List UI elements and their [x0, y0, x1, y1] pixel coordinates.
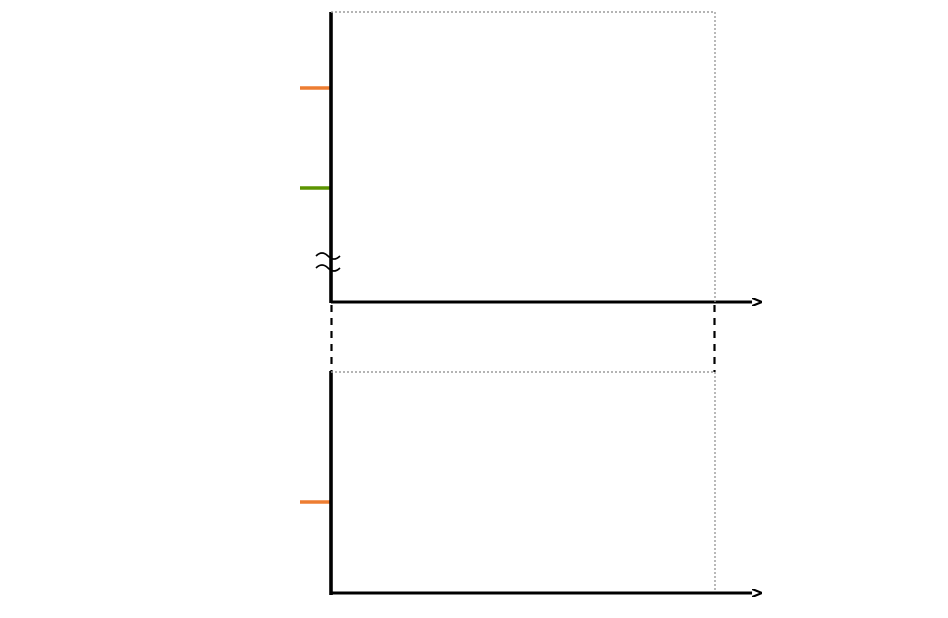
chart-vector-layer	[0, 0, 948, 618]
diagram-canvas	[0, 0, 948, 618]
axis-break-icon	[316, 253, 340, 271]
